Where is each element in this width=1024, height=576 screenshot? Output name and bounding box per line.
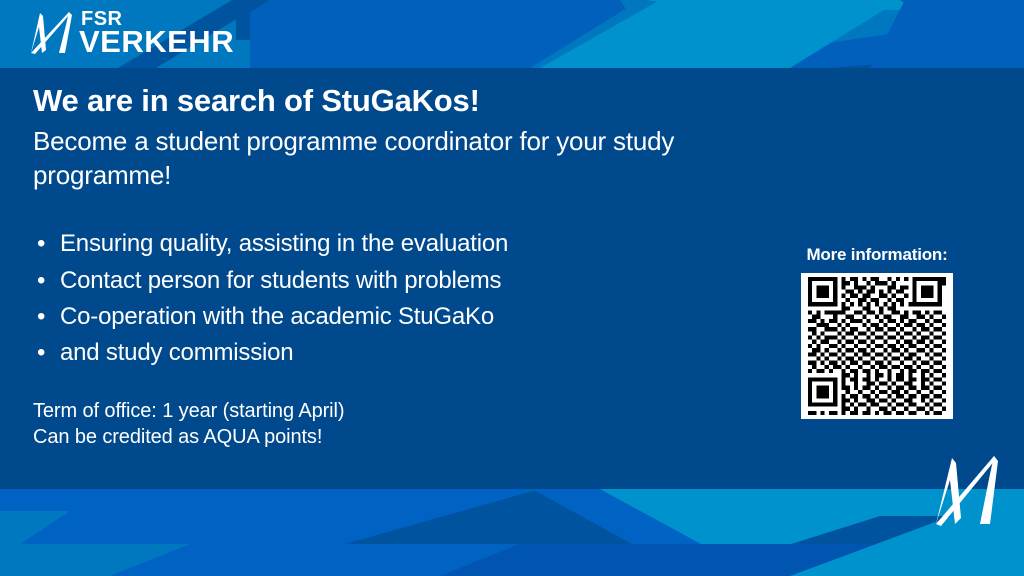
list-item-label: and study commission bbox=[60, 339, 293, 366]
page-title: We are in search of StuGaKos! bbox=[33, 82, 733, 121]
bullet-marker-icon: • bbox=[37, 265, 45, 296]
bullet-marker-icon: • bbox=[37, 337, 45, 368]
brand-wordmark: FSR VERKEHR bbox=[79, 9, 234, 57]
benefits-list: • Ensuring quality, assisting in the eva… bbox=[33, 228, 733, 368]
list-item: • and study commission bbox=[33, 337, 733, 368]
main-content: We are in search of StuGaKos! Become a s… bbox=[33, 82, 733, 451]
list-item: • Contact person for students with probl… bbox=[33, 265, 733, 296]
footnote-term-of-office: Term of office: 1 year (starting April) bbox=[33, 398, 733, 424]
brand-logo: FSR VERKEHR bbox=[25, 4, 234, 62]
footnotes: Term of office: 1 year (starting April) … bbox=[33, 398, 733, 451]
poster-canvas: FSR VERKEHR We are in search of StuGaKos… bbox=[0, 0, 1024, 576]
fsr-verkehr-bridge-mark-icon bbox=[25, 7, 77, 59]
qr-caption: More information: bbox=[782, 245, 972, 265]
list-item-label: Co-operation with the academic StuGaKo bbox=[60, 303, 494, 330]
footnote-aqua-points: Can be credited as AQUA points! bbox=[33, 424, 733, 450]
bullet-marker-icon: • bbox=[37, 228, 45, 259]
list-item: • Ensuring quality, assisting in the eva… bbox=[33, 228, 733, 259]
list-item-label: Ensuring quality, assisting in the evalu… bbox=[60, 230, 508, 257]
list-item: • Co-operation with the academic StuGaKo bbox=[33, 301, 733, 332]
bottom-band-shapes bbox=[0, 456, 1024, 576]
qr-code[interactable] bbox=[801, 273, 953, 419]
page-subtitle: Become a student programme coordinator f… bbox=[33, 125, 733, 193]
list-item-label: Contact person for students with problem… bbox=[60, 267, 501, 294]
tud-bridge-mark-icon bbox=[928, 450, 1006, 530]
more-information-block: More information: bbox=[782, 245, 972, 419]
bullet-marker-icon: • bbox=[37, 301, 45, 332]
qr-code-image[interactable] bbox=[808, 277, 946, 415]
brand-line-verkehr: VERKEHR bbox=[79, 26, 234, 57]
